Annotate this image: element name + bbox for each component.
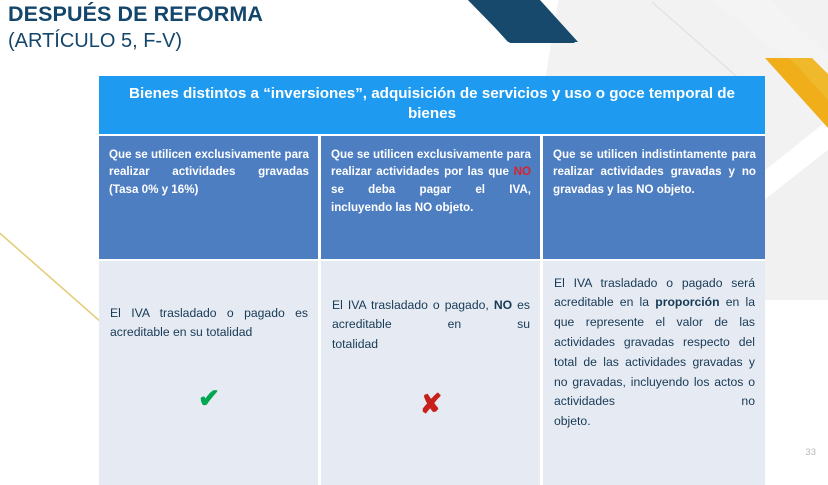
gold-diagonal-bar	[765, 58, 828, 128]
header-cell-exclusively-taxed: Que se utilicen exclusivamente para real…	[99, 136, 321, 261]
table-caption-row: Bienes distintos a “inversiones”, adquis…	[99, 76, 765, 136]
check-mark-icon: ✔	[110, 385, 308, 411]
table-header-row: Que se utilicen exclusivamente para real…	[99, 136, 765, 261]
body-cell-1-text: El IVA trasladado o pagado es acreditabl…	[110, 273, 308, 344]
gold-thin-diagonal-line	[0, 228, 110, 330]
body-cell-3-line2: objeto.	[554, 412, 755, 432]
header-cell-3-line1: Que se utilicen indistintamente para rea…	[553, 148, 756, 179]
slide-title-block: DESPUÉS DE REFORMA (ARTÍCULO 5, F-V)	[8, 2, 448, 54]
header-cell-1-line2: (Tasa 0% y 16%)	[109, 181, 309, 199]
navy-chevron-shape	[462, 0, 575, 43]
header-cell-2-line2: incluyendo las NO objeto.	[331, 199, 531, 217]
header-cell-2-emphasis-no: NO	[514, 165, 531, 178]
body-cell-2-emphasis-no: NO	[494, 298, 512, 312]
comparison-table-wrapper: Bienes distintos a “inversiones”, adquis…	[99, 76, 765, 485]
cross-mark-icon: ✘	[332, 391, 530, 418]
page-number: 33	[805, 447, 816, 458]
body-cell-3-text: El IVA trasladado o pagado será acredita…	[554, 273, 755, 432]
body-cell-2-pre: El IVA trasladado o pagado,	[332, 298, 489, 312]
body-cell-2-line2: totalidad	[332, 335, 530, 355]
body-cell-3-emphasis-proporcion: proporción	[655, 295, 719, 309]
gold-diagonal-bar-2	[790, 58, 828, 100]
comparison-table: Bienes distintos a “inversiones”, adquis…	[99, 76, 765, 485]
body-cell-3-post: en la que represente el valor de las act…	[554, 295, 755, 408]
body-cell-2-text: El IVA trasladado o pagado, NO es acredi…	[332, 273, 530, 355]
body-cell-proportional: El IVA trasladado o pagado será acredita…	[543, 261, 765, 485]
header-cell-exclusively-exempt: Que se utilicen exclusivamente para real…	[321, 136, 543, 261]
header-cell-2-post: se deba pagar el IVA,	[331, 183, 531, 196]
header-cell-2-pre: Que se utilicen exclusivamente para real…	[331, 148, 531, 179]
body-cell-not-creditable: El IVA trasladado o pagado, NO es acredi…	[321, 261, 543, 485]
body-cell-fully-creditable: El IVA trasladado o pagado es acreditabl…	[99, 261, 321, 485]
page-subtitle: (ARTÍCULO 5, F-V)	[8, 29, 448, 53]
page-title: DESPUÉS DE REFORMA	[8, 2, 448, 27]
header-cell-1-line1: Que se utilicen exclusivamente para real…	[109, 148, 309, 179]
table-caption-cell: Bienes distintos a “inversiones”, adquis…	[99, 76, 765, 136]
table-body-row: El IVA trasladado o pagado es acreditabl…	[99, 261, 765, 485]
header-cell-mixed-use: Que se utilicen indistintamente para rea…	[543, 136, 765, 261]
header-cell-3-line2: gravadas y las NO objeto.	[553, 181, 756, 199]
navy-chevron-bar	[470, 0, 578, 42]
